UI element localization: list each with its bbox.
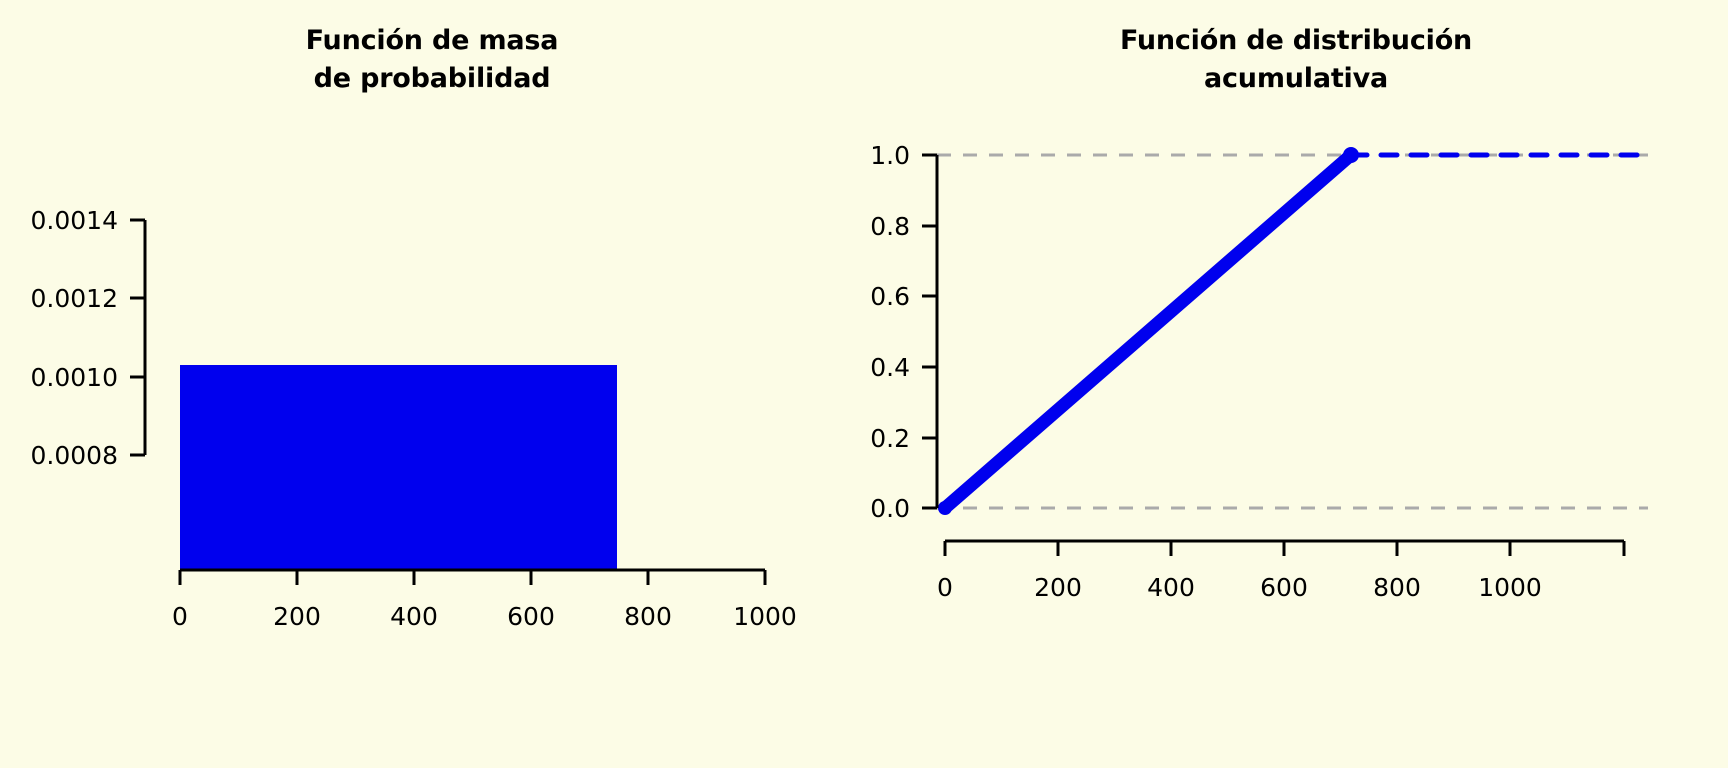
cdf-point-start	[938, 501, 952, 515]
cdf-x-tick-label-2: 400	[1147, 573, 1195, 602]
pmf-x-tick-label-0: 0	[172, 602, 188, 631]
cdf-point-end	[1343, 147, 1359, 163]
pmf-y-tick-label-1: 0.0012	[31, 284, 118, 313]
cdf-x-tick-label-5: 1000	[1478, 573, 1542, 602]
pmf-x-tick-label-3: 600	[507, 602, 555, 631]
cdf-y-axis	[922, 155, 937, 508]
cdf-x-tick-label-4: 800	[1373, 573, 1421, 602]
cdf-y-tick-label-3: 0.4	[870, 353, 910, 382]
pmf-x-tick-label-5: 1000	[733, 602, 797, 631]
cdf-x-tick-label-3: 600	[1260, 573, 1308, 602]
cdf-x-tick-label-0: 0	[937, 573, 953, 602]
cdf-x-axis	[945, 541, 1624, 556]
cdf-y-tick-label-5: 0.0	[870, 494, 910, 523]
cdf-x-tick-label-1: 200	[1034, 573, 1082, 602]
chart-panel-cdf: Función de distribución acumulativa	[864, 0, 1728, 768]
figure-root: Función de masa de probabilidad	[0, 0, 1728, 768]
pmf-y-axis	[130, 220, 145, 455]
cdf-y-tick-label-1: 0.8	[870, 212, 910, 241]
chart-panel-pmf: Función de masa de probabilidad	[0, 0, 864, 768]
cdf-y-tick-label-4: 0.2	[870, 424, 910, 453]
pmf-x-axis	[180, 570, 765, 585]
cdf-plot-area: 1.0 0.8 0.6 0.4 0.2 0.0 0 200 400 600 80…	[864, 0, 1728, 768]
pmf-y-tick-label-0: 0.0014	[31, 206, 118, 235]
pmf-x-tick-label-2: 400	[390, 602, 438, 631]
pmf-x-tick-label-1: 200	[273, 602, 321, 631]
cdf-ramp-line	[945, 155, 1351, 508]
pmf-bar-uniform	[180, 365, 617, 570]
cdf-y-tick-label-0: 1.0	[870, 141, 910, 170]
pmf-y-tick-label-3: 0.0008	[31, 441, 118, 470]
pmf-plot-area: 0.0014 0.0012 0.0010 0.0008 0 200 400 60…	[0, 0, 864, 768]
cdf-y-tick-label-2: 0.6	[870, 282, 910, 311]
pmf-x-tick-label-4: 800	[624, 602, 672, 631]
pmf-y-tick-label-2: 0.0010	[31, 363, 118, 392]
